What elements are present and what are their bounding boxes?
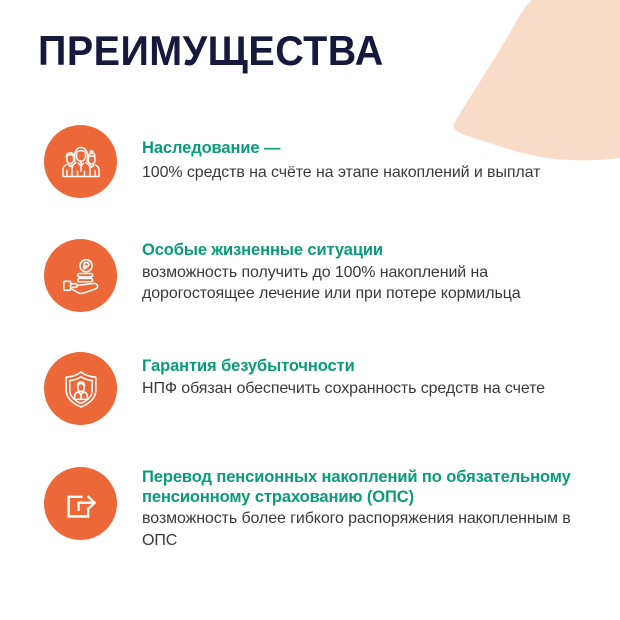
page-title: ПРЕИМУЩЕСТВА (38, 26, 384, 76)
benefit-item-guarantee: Гарантия безубыточности НПФ обязан обесп… (44, 352, 584, 425)
benefit-icon-circle (44, 467, 117, 540)
benefit-heading: Особые жизненные ситуации (142, 240, 584, 261)
benefit-body: НПФ обязан обеспечить сохранность средст… (142, 378, 584, 400)
benefit-item-transfer-ops: Перевод пенсионных накоплений по обязате… (44, 467, 584, 551)
benefit-text: Особые жизненные ситуации возможность по… (117, 239, 584, 305)
share-arrow-out-of-box-icon (59, 482, 103, 526)
benefit-text: Наследование — 100% средств на счёте на … (117, 125, 584, 183)
benefit-text: Перевод пенсионных накоплений по обязате… (117, 467, 584, 551)
benefit-body: 100% средств на счёте на этапе накоплени… (142, 162, 584, 184)
shield-with-person-icon (59, 367, 103, 411)
family-group-icon (59, 140, 103, 184)
benefit-icon-circle (44, 125, 117, 198)
benefit-icon-circle (44, 352, 117, 425)
benefit-item-life-situations: Особые жизненные ситуации возможность по… (44, 239, 584, 312)
benefit-icon-circle (44, 239, 117, 312)
hand-with-ruble-coins-icon (59, 254, 103, 298)
slide-canvas: ПРЕИМУЩЕСТВА (0, 0, 620, 620)
benefit-item-inheritance: Наследование — 100% средств на счёте на … (44, 125, 584, 198)
benefit-heading: Перевод пенсионных накоплений по обязате… (142, 467, 584, 507)
benefit-body: возможность более гибкого распоряжения н… (142, 508, 584, 551)
benefit-text: Гарантия безубыточности НПФ обязан обесп… (117, 352, 584, 399)
benefit-heading: Гарантия безубыточности (142, 356, 584, 377)
benefit-body: возможность получить до 100% накоплений … (142, 262, 584, 305)
benefit-heading: Наследование — (142, 138, 584, 159)
